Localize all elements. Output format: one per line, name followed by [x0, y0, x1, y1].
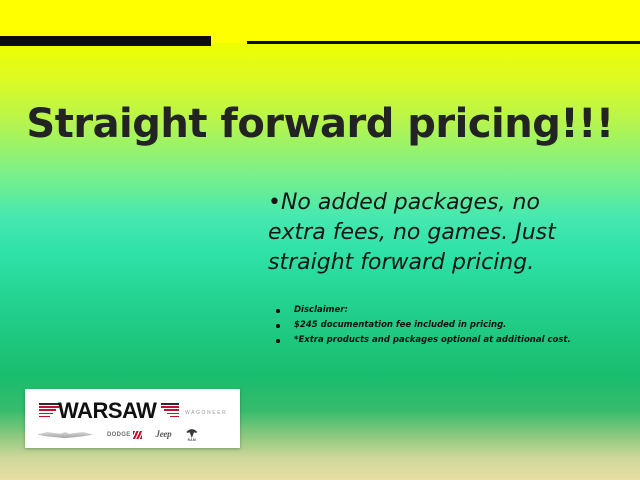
chrysler-wing-shape	[37, 432, 93, 439]
list-item: $245 documentation fee included in prici…	[272, 318, 592, 333]
page-title: Straight forward pricing!!!	[0, 100, 640, 148]
list-item: *Extra products and packages optional at…	[272, 333, 592, 348]
dodge-logo-icon: DODGE	[107, 429, 142, 441]
logo-sub-brand: WAGONEER	[185, 410, 227, 416]
decorative-thin-rule	[247, 41, 640, 44]
decorative-thick-rule	[0, 36, 211, 46]
lead-paragraph: •No added packages, no extra fees, no ga…	[268, 188, 558, 278]
list-item: Disclaimer:	[272, 303, 592, 318]
jeep-logo-icon: Jeep	[156, 429, 172, 441]
bullet-icon	[276, 339, 280, 343]
ram-wordmark: RAM	[185, 438, 198, 442]
logo-stripes-right-icon	[161, 403, 179, 420]
ram-head-shape	[186, 429, 197, 438]
logo-inner: WARSAW WAGONEER DODGE Jeep RAM	[25, 389, 240, 448]
chrysler-wings-icon	[37, 429, 93, 441]
list-item-label: Disclaimer:	[294, 305, 348, 315]
list-item-label: $245 documentation fee included in prici…	[294, 320, 506, 330]
logo-stripes-left-icon	[39, 403, 59, 420]
list-item-label: *Extra products and packages optional at…	[294, 335, 571, 345]
dodge-wordmark: DODGE	[107, 432, 131, 438]
bullet-icon	[276, 324, 280, 328]
bullet-icon	[276, 309, 280, 313]
dodge-slash-icon	[133, 431, 142, 439]
dealership-logo-card: WARSAW WAGONEER DODGE Jeep RAM	[25, 389, 240, 448]
ram-logo-icon: RAM	[185, 429, 198, 441]
brand-strip: DODGE Jeep RAM	[37, 428, 232, 442]
disclaimer-list: Disclaimer: $245 documentation fee inclu…	[272, 303, 592, 348]
slide-canvas: Straight forward pricing!!! •No added pa…	[0, 0, 640, 480]
logo-wordmark: WARSAW	[58, 399, 156, 423]
